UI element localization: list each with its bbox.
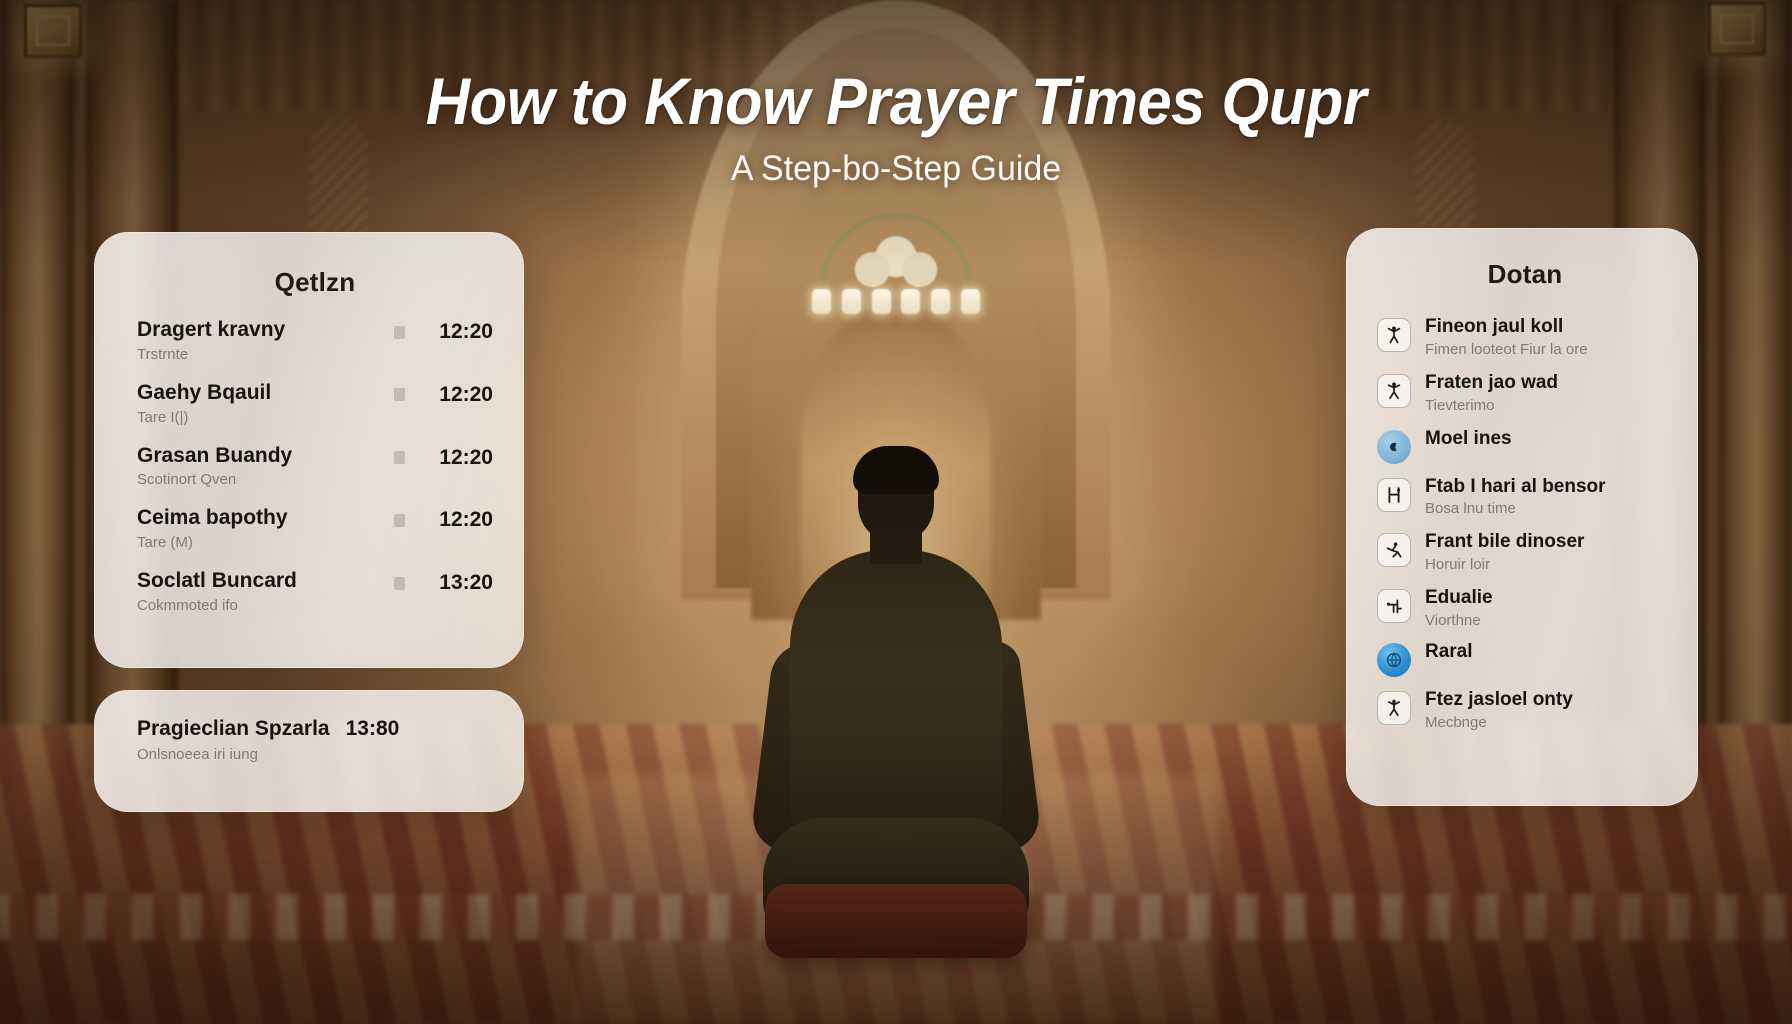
person-raised-arms-icon (1377, 691, 1411, 725)
detail-name: Raral (1425, 641, 1473, 664)
details-card-title: Dotan (1377, 259, 1673, 290)
detail-row[interactable]: Fineon jaul koll Fimen looteot Fiur la o… (1377, 316, 1673, 358)
prayer-subtitle: Trstrnte (137, 346, 394, 363)
detail-row[interactable]: Raral (1377, 641, 1673, 677)
detail-subtitle: Tievterimo (1425, 397, 1558, 414)
next-prayer-subtitle: Onlsnoeea iri iung (137, 746, 493, 763)
prayer-row[interactable]: Soclatl Buncard Cokmmoted ifo 13:20 (137, 569, 493, 614)
page-title: How to Know Prayer Times Qupr (63, 68, 1730, 135)
page-subtitle: A Step-bo-Step Guide (27, 149, 1765, 189)
detail-subtitle: Viorthne (1425, 612, 1493, 629)
details-list: Fineon jaul koll Fimen looteot Fiur la o… (1377, 316, 1673, 731)
detail-row[interactable]: Edualie Viorthne (1377, 587, 1673, 629)
person-raised-arms-icon (1377, 374, 1411, 408)
detail-row[interactable]: Ftez jasloel onty Mecbnge (1377, 689, 1673, 731)
square-dot-icon (394, 451, 405, 464)
next-prayer-card[interactable]: Pragieclian Spzarla 13:80 Onlsnoeea iri … (94, 690, 524, 812)
prayer-row[interactable]: Ceima bapothy Tare (M) 12:20 (137, 506, 493, 551)
hero-text-block: How to Know Prayer Times Qupr A Step-bo-… (0, 68, 1792, 189)
person-standing-icon (1377, 478, 1411, 512)
square-dot-icon (394, 514, 405, 527)
detail-subtitle: Mecbnge (1425, 714, 1573, 731)
square-dot-icon (394, 388, 405, 401)
prayer-name: Soclatl Buncard (137, 569, 394, 594)
next-prayer-name: Pragieclian Spzarla (137, 717, 330, 741)
prayer-name: Gaehy Bqauil (137, 381, 394, 406)
detail-name: Moel ines (1425, 428, 1512, 451)
prayer-times-card: Qetlzn Dragert kravny Trstrnte 12:20 Gae… (94, 232, 524, 668)
info-circle-icon (1377, 430, 1411, 464)
person-kneeling-icon (1377, 533, 1411, 567)
prayer-row[interactable]: Dragert kravny Trstrnte 12:20 (137, 318, 493, 363)
prayer-name: Grasan Buandy (137, 444, 394, 469)
prayer-name: Ceima bapothy (137, 506, 394, 531)
prayer-times-list: Dragert kravny Trstrnte 12:20 Gaehy Bqau… (137, 318, 493, 614)
detail-name: Frant bile dinoser (1425, 531, 1584, 554)
details-card: Dotan Fineon jaul koll Fimen looteot Fiu… (1346, 228, 1698, 806)
prayer-name: Dragert kravny (137, 318, 394, 343)
detail-row[interactable]: Fraten jao wad Tievterimo (1377, 372, 1673, 414)
detail-name: Fineon jaul koll (1425, 316, 1588, 339)
prayer-time: 13:20 (421, 571, 493, 595)
prayer-subtitle: Scotinort Qven (137, 471, 394, 488)
detail-row[interactable]: Moel ines (1377, 428, 1673, 464)
next-prayer-headline: Pragieclian Spzarla 13:80 (137, 717, 493, 741)
detail-subtitle: Fimen looteot Fiur la ore (1425, 341, 1588, 358)
prayer-time: 12:20 (421, 508, 493, 532)
person-bowing-icon (1377, 589, 1411, 623)
prayer-time: 12:20 (421, 320, 493, 344)
prayer-subtitle: Tare (M) (137, 534, 394, 551)
prayer-subtitle: Tare I(|) (137, 409, 394, 426)
detail-subtitle: Bosa lnu time (1425, 500, 1606, 517)
detail-row[interactable]: Ftab I hari al bensor Bosa lnu time (1377, 476, 1673, 518)
person-raised-arms-icon (1377, 318, 1411, 352)
detail-subtitle: Horuir loir (1425, 556, 1584, 573)
prayer-times-card-title: Qetlzn (137, 267, 493, 298)
detail-name: Fraten jao wad (1425, 372, 1558, 395)
prayer-time: 12:20 (421, 446, 493, 470)
prayer-row[interactable]: Grasan Buandy Scotinort Qven 12:20 (137, 444, 493, 489)
next-prayer-time: 13:80 (346, 717, 400, 741)
prayer-row[interactable]: Gaehy Bqauil Tare I(|) 12:20 (137, 381, 493, 426)
globe-circle-icon (1377, 643, 1411, 677)
square-dot-icon (394, 326, 405, 339)
detail-name: Edualie (1425, 587, 1493, 610)
prayer-time: 12:20 (421, 383, 493, 407)
prayer-subtitle: Cokmmoted ifo (137, 597, 394, 614)
detail-name: Ftab I hari al bensor (1425, 476, 1606, 499)
detail-name: Ftez jasloel onty (1425, 689, 1573, 712)
detail-row[interactable]: Frant bile dinoser Horuir loir (1377, 531, 1673, 573)
square-dot-icon (394, 577, 405, 590)
